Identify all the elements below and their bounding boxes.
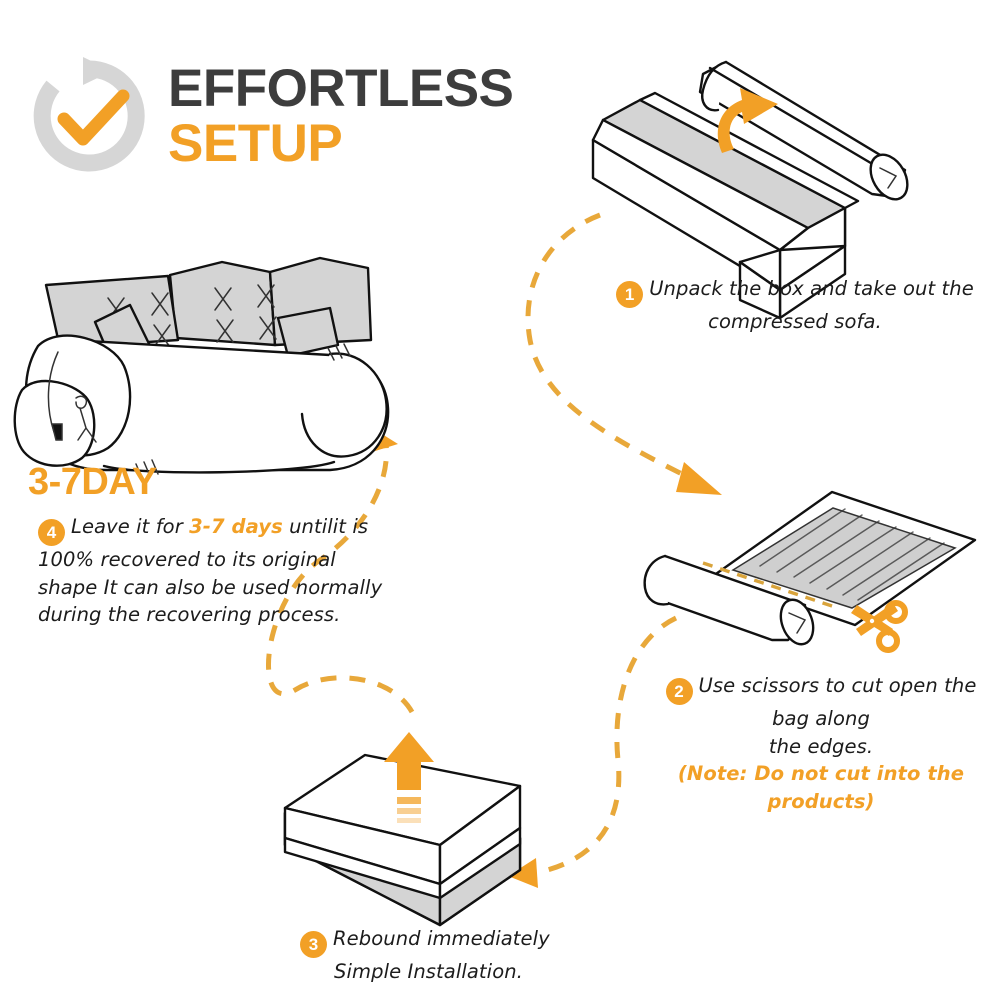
vacuum-bag-illustration bbox=[645, 492, 975, 650]
step-1-line1: Unpack the box and take out the bbox=[649, 277, 974, 300]
header: EFFORTLESS SETUP bbox=[28, 55, 513, 177]
step-4-text: 4Leave it for 3-7 days untilit is 100% r… bbox=[38, 513, 390, 629]
box-to-bag-arrow bbox=[528, 215, 722, 495]
step-1-text: 1Unpack the box and take out the compres… bbox=[604, 275, 986, 336]
day-heading: 3-7DAY bbox=[28, 461, 157, 504]
step-2-text: 2Use scissors to cut open the bag along … bbox=[656, 672, 986, 816]
page-title-line2: SETUP bbox=[168, 118, 513, 170]
step-3-line1: Rebound immediately bbox=[333, 927, 550, 950]
step-2-line1: Use scissors to cut open the bag along bbox=[699, 674, 977, 730]
cushion-illustration bbox=[285, 732, 520, 925]
step-3-text: 3Rebound immediately Simple Installation… bbox=[300, 925, 550, 986]
step-4-prefix: Leave it for bbox=[71, 515, 189, 538]
step-3-badge: 3 bbox=[300, 931, 327, 958]
step-1-line2: compressed sofa. bbox=[708, 310, 882, 333]
step-1-badge: 1 bbox=[616, 281, 643, 308]
step-2-line2: the edges. bbox=[769, 735, 873, 758]
refresh-check-circle-icon bbox=[28, 55, 150, 177]
bag-to-cushion-arrow bbox=[508, 618, 676, 888]
sofa-illustration bbox=[15, 258, 388, 478]
step-4-accent: 3-7 days bbox=[189, 515, 283, 538]
page-title-line1: EFFORTLESS bbox=[168, 63, 513, 115]
step-4-badge: 4 bbox=[38, 519, 65, 546]
step-2-badge: 2 bbox=[666, 678, 693, 705]
step-2-note: (Note: Do not cut into the products) bbox=[678, 762, 964, 813]
infographic-canvas: EFFORTLESS SETUP 1Unpack the box and tak… bbox=[0, 0, 1000, 1000]
step-3-line2: Simple Installation. bbox=[334, 958, 523, 986]
